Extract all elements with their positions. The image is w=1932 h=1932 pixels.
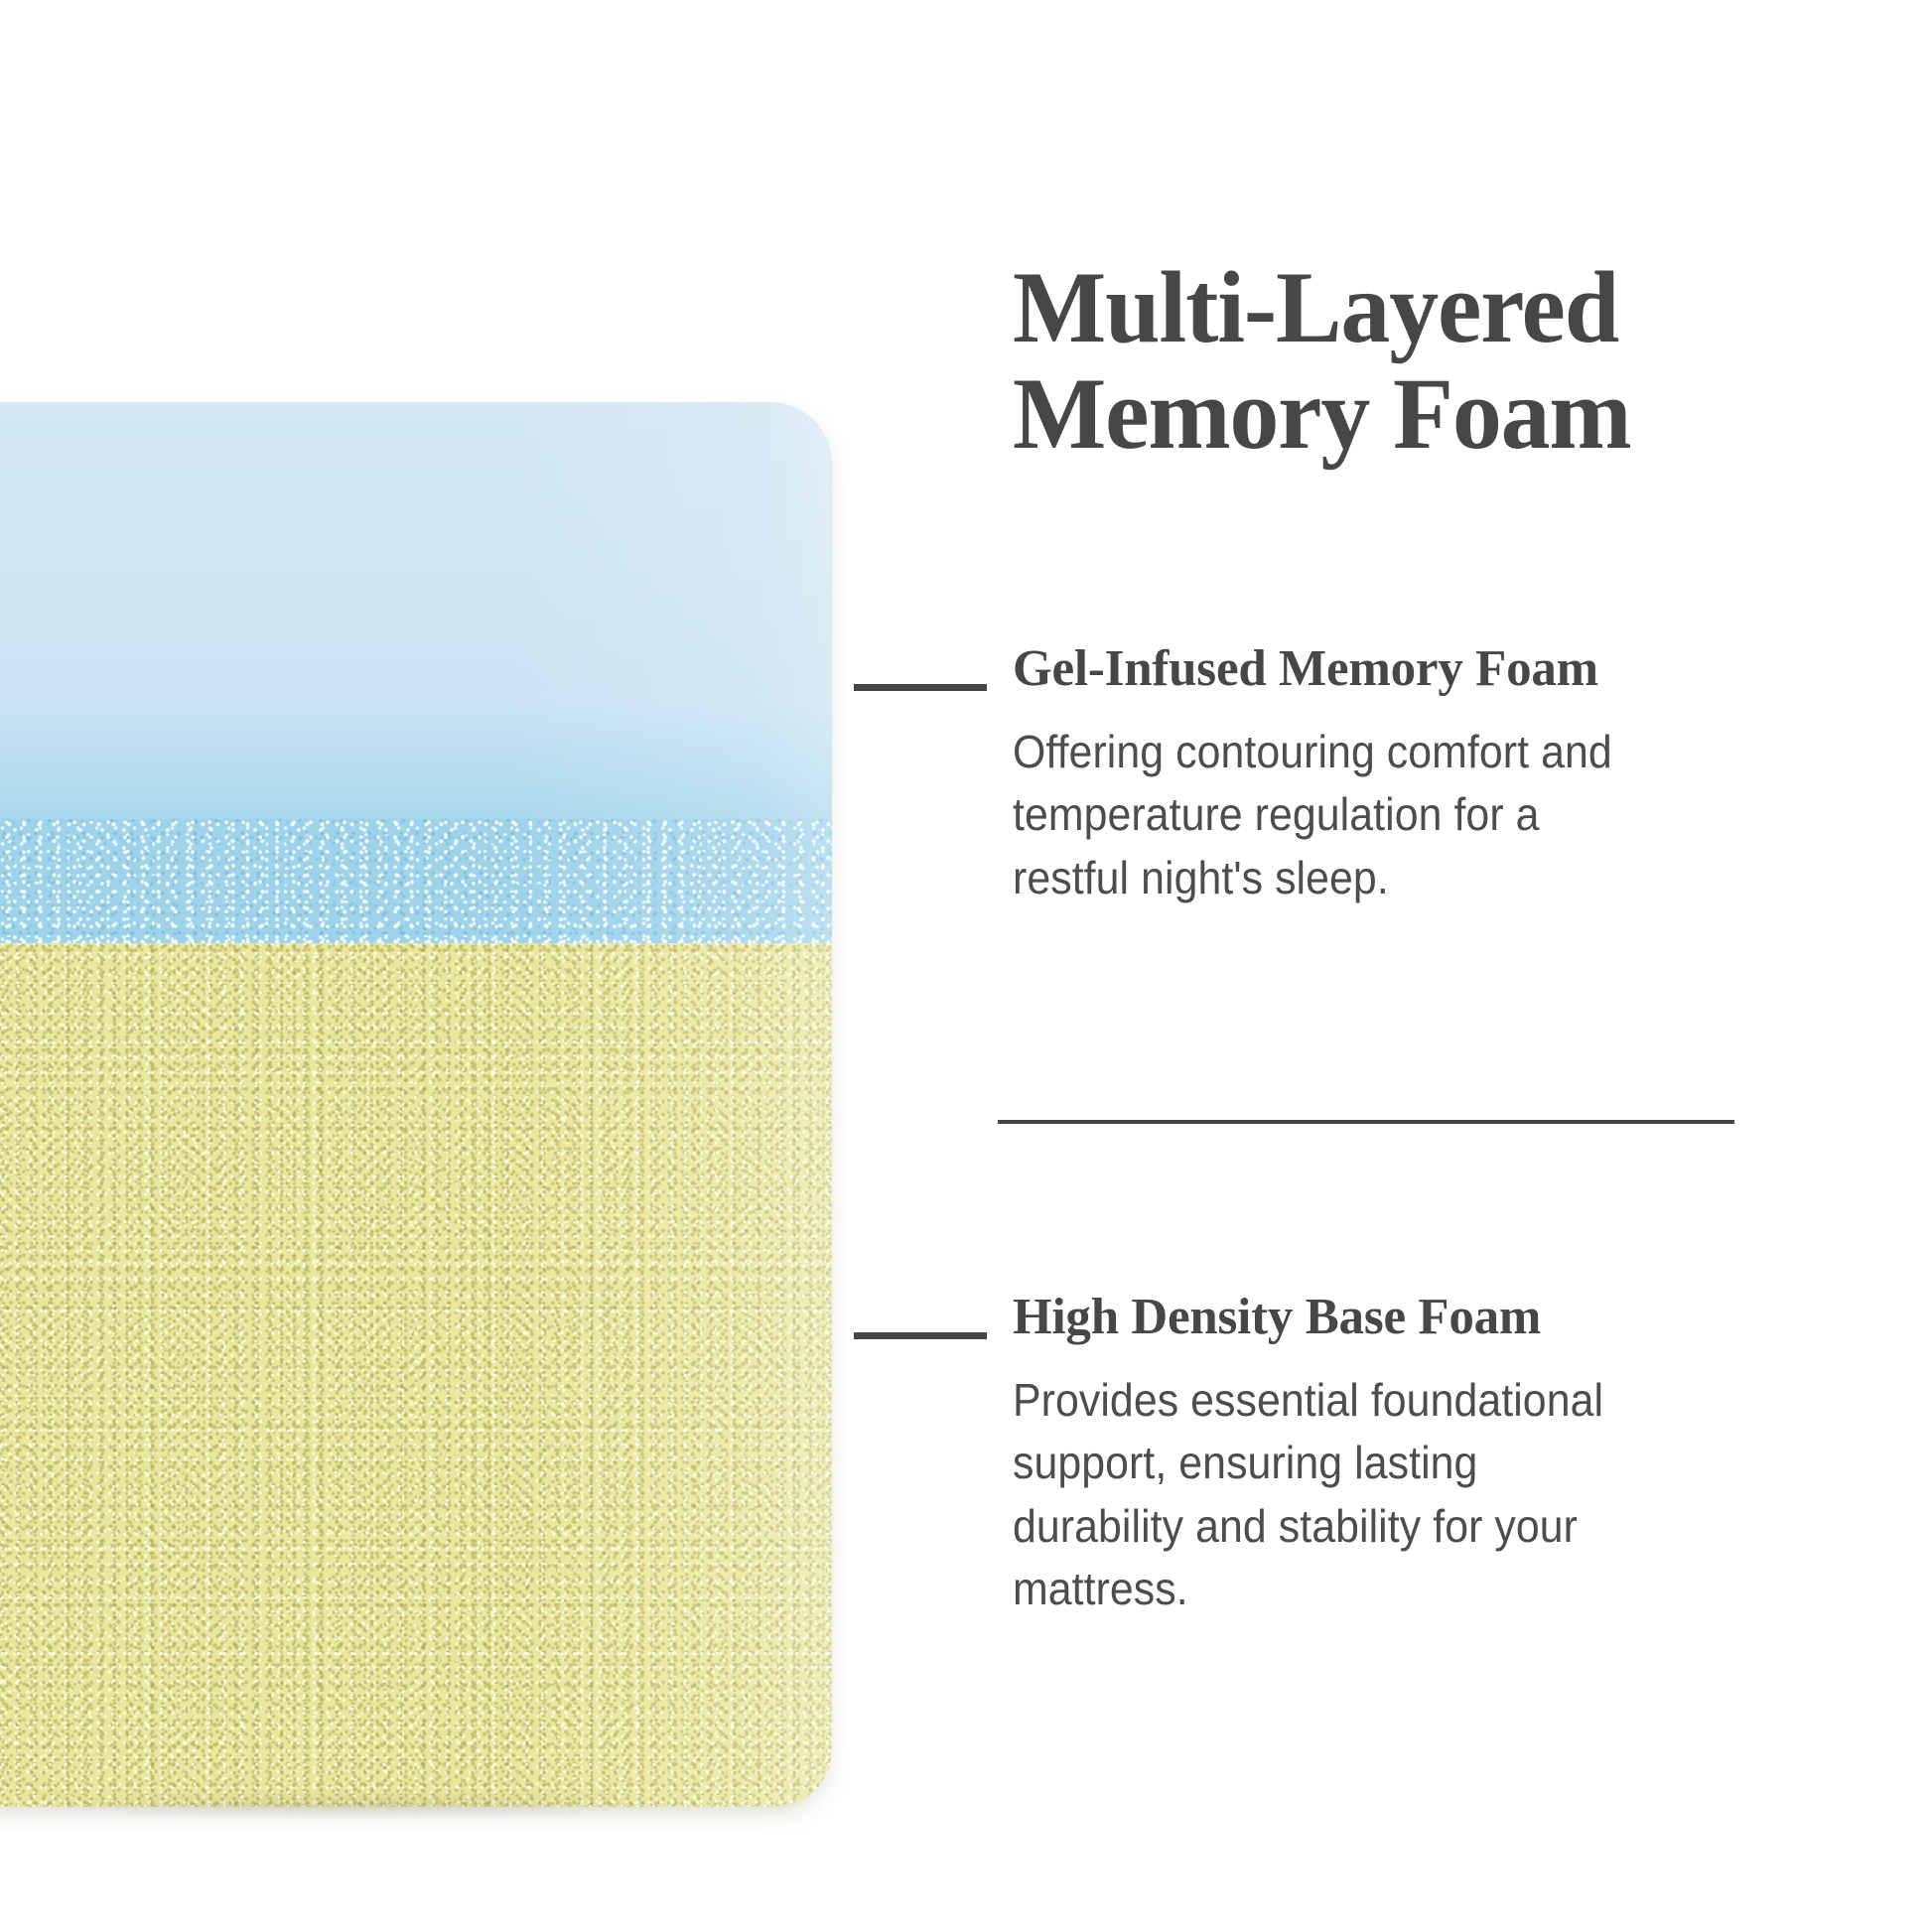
foam-block-image [0, 402, 832, 1807]
feature-description: Provides essential foundational support,… [1013, 1369, 1659, 1621]
blue-foam-pore-texture [0, 819, 832, 943]
feature-heading: Gel-Infused Memory Foam [1013, 643, 1820, 695]
gel-foam-fade-zone [0, 695, 832, 824]
feature-dash-icon [854, 684, 987, 691]
feature-gel-infused-memory-foam: Gel-Infused Memory Foam Offering contour… [1013, 643, 1837, 909]
base-foam-layer [0, 943, 832, 1807]
feature-dash-icon [854, 1332, 987, 1339]
feature-high-density-base-foam: High Density Base Foam Provides essentia… [1013, 1292, 1837, 1621]
gel-foam-top-face [0, 402, 832, 700]
page-title: Multi-Layered Memory Foam [1013, 255, 1812, 468]
feature-description: Offering contouring comfort and temperat… [1013, 721, 1659, 909]
yellow-foam-pore-texture [0, 943, 832, 1807]
content-column: Multi-Layered Memory Foam Gel-Infused Me… [1013, 0, 1837, 1932]
section-divider [998, 1120, 1734, 1124]
gel-foam-porous-band [0, 819, 832, 943]
feature-heading: High Density Base Foam [1013, 1292, 1820, 1343]
